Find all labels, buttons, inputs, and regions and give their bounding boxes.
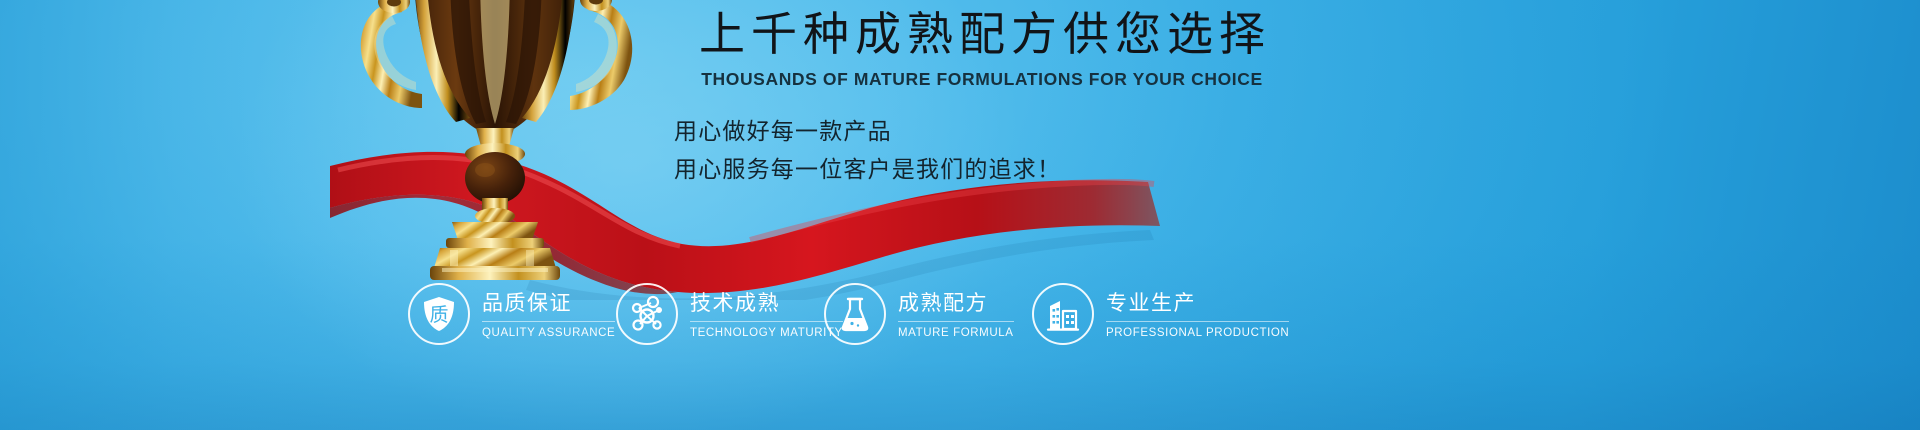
feature-title: 技术成熟	[690, 291, 843, 316]
molecule-icon	[616, 283, 678, 345]
page-title: 上千种成熟配方供您选择	[672, 6, 1292, 62]
feature-divider	[690, 321, 843, 322]
feature-divider	[482, 321, 615, 322]
feature-divider	[1106, 321, 1289, 322]
body-copy: 用心做好每一款产品 用心服务每一位客户是我们的追求！	[672, 112, 1292, 188]
feature-item-technology-maturity[interactable]: 技术成熟 TECHNOLOGY MATURITY	[616, 283, 824, 345]
subtitle: THOUSANDS OF MATURE FORMULATIONS FOR YOU…	[672, 68, 1292, 90]
feature-text: 技术成熟 TECHNOLOGY MATURITY	[690, 289, 843, 340]
feature-title: 成熟配方	[898, 291, 1014, 316]
factory-building-icon	[1032, 283, 1094, 345]
feature-divider	[898, 321, 1014, 322]
feature-text: 专业生产 PROFESSIONAL PRODUCTION	[1106, 289, 1289, 340]
flask-icon	[824, 283, 886, 345]
banner-copy: 上千种成熟配方供您选择 THOUSANDS OF MATURE FORMULAT…	[672, 6, 1292, 188]
feature-subtitle: QUALITY ASSURANCE	[482, 326, 615, 340]
feature-subtitle: MATURE FORMULA	[898, 326, 1014, 340]
feature-item-quality-assurance[interactable]: 质 品质保证 QUALITY ASSURANCE	[408, 283, 616, 345]
feature-item-mature-formula[interactable]: 成熟配方 MATURE FORMULA	[824, 283, 1032, 345]
feature-text: 成熟配方 MATURE FORMULA	[898, 289, 1014, 340]
feature-item-professional-production[interactable]: 专业生产 PROFESSIONAL PRODUCTION	[1032, 283, 1240, 345]
body-line-2: 用心服务每一位客户是我们的追求！	[674, 150, 1292, 188]
body-line-1: 用心做好每一款产品	[674, 112, 1292, 150]
feature-title: 专业生产	[1106, 291, 1289, 316]
shield-quality-icon: 质	[408, 283, 470, 345]
feature-text: 品质保证 QUALITY ASSURANCE	[482, 289, 615, 340]
promo-banner: 上千种成熟配方供您选择 THOUSANDS OF MATURE FORMULAT…	[0, 0, 1920, 430]
feature-title: 品质保证	[482, 291, 615, 316]
feature-subtitle: PROFESSIONAL PRODUCTION	[1106, 326, 1289, 340]
shield-glyph: 质	[429, 304, 448, 326]
feature-subtitle: TECHNOLOGY MATURITY	[690, 326, 843, 340]
feature-list: 质 品质保证 QUALITY ASSURANCE	[408, 283, 1238, 363]
